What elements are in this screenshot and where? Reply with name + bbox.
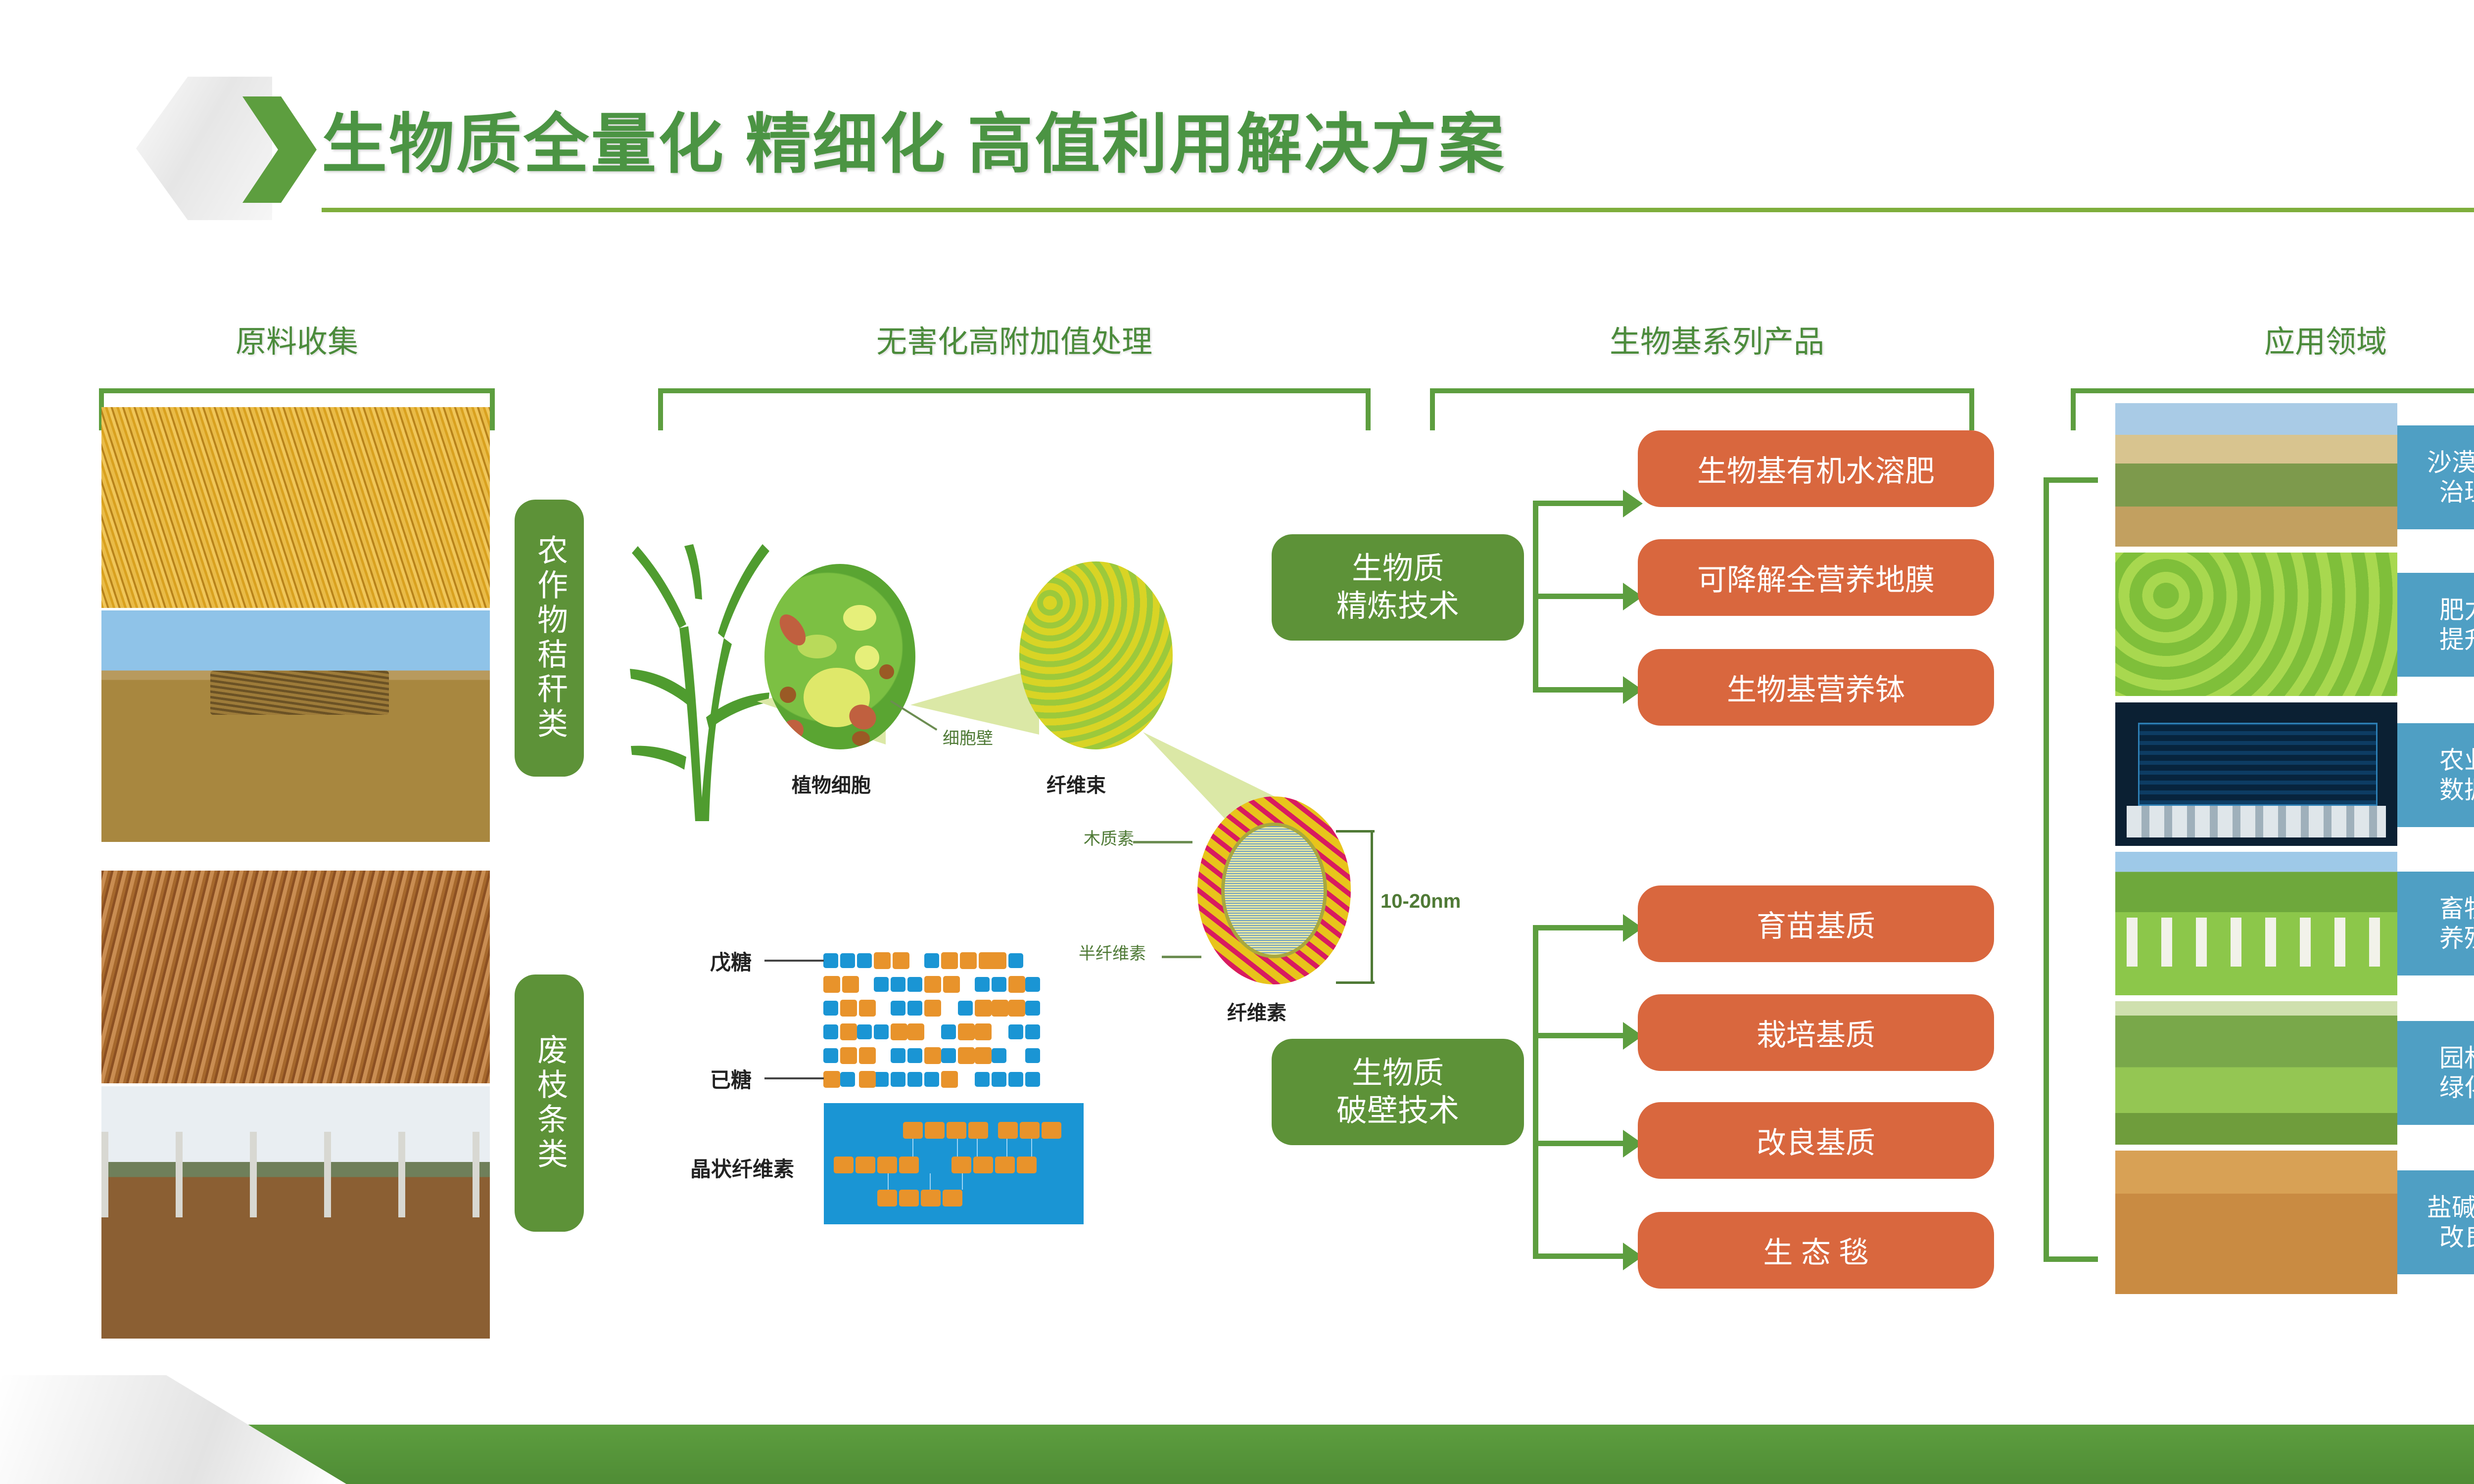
pentose-leader-line [764, 960, 824, 962]
straw-bale-field-photo [101, 610, 490, 842]
application-bracket-bottom [2044, 1256, 2098, 1262]
dimension-label: 10-20nm [1380, 890, 1461, 913]
section-label-raw-material: 原料收集 [99, 317, 495, 361]
app-tag-line-2: 绿化 [2439, 1073, 2474, 1103]
product-pill-water-soluble-fertilizer[interactable]: 生物基有机水溶肥 [1638, 430, 1994, 507]
waste-branch-tag: 废枝条类 [515, 974, 584, 1232]
section-label-applications: 应用领域 [2078, 317, 2474, 361]
application-tag-saline-alkali-improvement[interactable]: 盐碱地 改良 [2397, 1170, 2474, 1274]
product-pill-cultivation-substrate[interactable]: 栽培基质 [1638, 994, 1994, 1071]
wallbreak-branch-4 [1533, 1253, 1624, 1259]
wallbreak-branch-1 [1533, 925, 1624, 930]
app-tag-line-1: 园林 [2439, 1043, 2474, 1073]
sugar-chain-diagram [821, 952, 1103, 1106]
application-tag-landscape-greening[interactable]: 园林 绿化 [2397, 1021, 2474, 1125]
application-tag-fertility-improvement[interactable]: 肥力 提升 [2397, 573, 2474, 677]
fiber-bundle-illustration [1019, 561, 1173, 749]
product-pill-degradable-mulch-film[interactable]: 可降解全营养地膜 [1638, 539, 1994, 616]
product-pill-ecological-blanket[interactable]: 生 态 毯 [1638, 1212, 1994, 1289]
app-tag-line-1: 沙漠化 [2427, 448, 2474, 477]
page-header: 生物质全量化 精细化 高值利用解决方案 [0, 0, 2474, 237]
section-bracket-processing [658, 388, 1371, 430]
crystalline-cellulose-panel [824, 1103, 1084, 1224]
biomass-refining-technology[interactable]: 生物质 精炼技术 [1272, 534, 1524, 641]
dimension-tick-bottom [1336, 981, 1375, 984]
cabbage-field-photo [2115, 553, 2397, 696]
garden-photo [2115, 1001, 2397, 1145]
app-tag-line-2: 改良 [2439, 1222, 2474, 1252]
hemicellulose-leader-line [1162, 956, 1201, 958]
wallbreak-branch-3 [1533, 1141, 1624, 1146]
refining-branch-3 [1533, 687, 1624, 693]
zoom-beam-2 [910, 660, 1039, 735]
application-tag-livestock-breeding[interactable]: 畜牧 养殖 [2397, 872, 2474, 975]
pentose-label: 戊糖 [710, 946, 752, 976]
pasture-photo [2115, 852, 2397, 995]
page-title: 生物质全量化 精细化 高值利用解决方案 [322, 92, 1506, 186]
product-pill-improvement-substrate[interactable]: 改良基质 [1638, 1102, 1994, 1179]
corn-stover-photo [101, 407, 490, 608]
app-tag-line-1: 肥力 [2439, 595, 2474, 625]
product-pill-seedling-substrate[interactable]: 育苗基质 [1638, 885, 1994, 962]
footer-bar [0, 1425, 2474, 1484]
app-tag-line-2: 数据 [2439, 775, 2474, 805]
wallbreak-branch-2 [1533, 1033, 1624, 1038]
grass-plant-icon [621, 529, 774, 821]
saline-land-photo [2115, 1151, 2397, 1294]
cellulose-label: 纤维素 [1227, 997, 1286, 1025]
hexose-leader-line [764, 1077, 824, 1079]
product-pill-nutrient-pot[interactable]: 生物基营养钵 [1638, 649, 1994, 726]
application-bracket-top [2044, 477, 2098, 483]
hexose-label: 已糖 [710, 1064, 752, 1094]
app-tag-line-1: 农业 [2439, 745, 2474, 775]
crystalline-cellulose-label: 晶状纤维素 [690, 1153, 794, 1183]
refining-branch-2 [1533, 594, 1624, 599]
tech-line-2: 破壁技术 [1336, 1092, 1459, 1130]
cellulose-core [1221, 823, 1327, 958]
section-bracket-products [1430, 388, 1974, 430]
plant-cell-illustration [764, 564, 915, 749]
desert-photo [2115, 403, 2397, 547]
app-tag-line-2: 治理 [2439, 477, 2474, 507]
lignin-label: 木质素 [1084, 825, 1134, 849]
section-label-products: 生物基系列产品 [1445, 317, 1989, 361]
cell-wall-label: 细胞壁 [943, 725, 993, 749]
application-tag-desertification-control[interactable]: 沙漠化 治理 [2397, 425, 2474, 529]
dimension-line-vertical [1371, 830, 1373, 983]
plant-cell-label: 植物细胞 [792, 769, 871, 798]
app-tag-line-2: 提升 [2439, 625, 2474, 654]
dimension-tick-top [1336, 830, 1375, 833]
app-tag-line-1: 畜牧 [2439, 894, 2474, 924]
crop-straw-tag: 农作物秸秆类 [515, 500, 584, 777]
tech-line-2: 精炼技术 [1336, 588, 1459, 625]
section-label-processing: 无害化高附加值处理 [643, 317, 1385, 361]
biomass-wall-breaking-technology[interactable]: 生物质 破壁技术 [1272, 1039, 1524, 1145]
refining-branch-1 [1533, 501, 1624, 506]
lignin-leader-line [1133, 841, 1192, 843]
app-tag-line-2: 养殖 [2439, 924, 2474, 953]
app-tag-line-1: 盐碱地 [2427, 1193, 2474, 1222]
application-bracket-vertical [2044, 477, 2049, 1261]
orchard-pruning-photo [101, 1086, 490, 1339]
dry-branches-photo [101, 871, 490, 1083]
fiber-bundle-label: 纤维束 [1047, 769, 1106, 798]
title-divider [322, 208, 2474, 212]
application-tag-agricultural-data[interactable]: 农业 数据 [2397, 723, 2474, 827]
control-room-photo [2115, 702, 2397, 846]
tech-line-1: 生物质 [1352, 1055, 1444, 1092]
wallbreak-trunk-line [1533, 925, 1538, 1259]
tech-line-1: 生物质 [1352, 550, 1444, 588]
